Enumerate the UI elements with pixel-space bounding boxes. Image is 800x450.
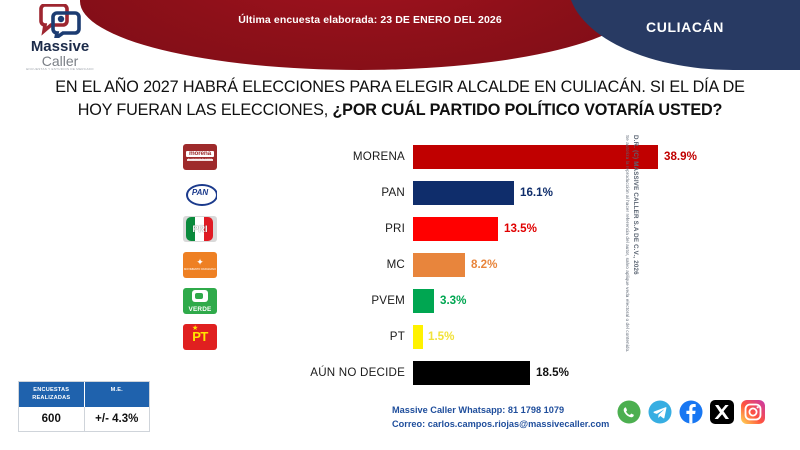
results-bar-chart: morena la esperanza de méxico MORENA 38.… bbox=[0, 132, 800, 364]
bar-morena bbox=[413, 145, 658, 169]
bar-undecided bbox=[413, 361, 530, 385]
pri-logo: PRI bbox=[183, 216, 217, 242]
stats-value-margin: +/- 4.3% bbox=[85, 407, 150, 431]
whatsapp-icon[interactable] bbox=[617, 400, 641, 424]
table-row: VERDE PVEM 3.3% bbox=[0, 288, 800, 318]
header-blue-banner bbox=[568, 0, 800, 70]
bar-pri bbox=[413, 217, 498, 241]
x-twitter-icon[interactable] bbox=[710, 400, 734, 424]
question-line-2-normal: HOY FUERAN LAS ELECCIONES, bbox=[78, 101, 333, 119]
value-label-morena: 38.9% bbox=[664, 150, 697, 163]
mc-logo-text: ✦ bbox=[183, 258, 217, 267]
pan-logo-text: PAN bbox=[183, 188, 217, 197]
header-red-banner bbox=[80, 0, 640, 70]
value-label-pt: 1.5% bbox=[428, 330, 454, 343]
whatsapp-contact-line: Massive Caller Whatsapp: 81 1798 1079 bbox=[392, 403, 609, 417]
logo-tagline: ENCUESTAS Y ESTUDIOS DE MERCADO bbox=[12, 68, 108, 71]
bar-mc bbox=[413, 253, 465, 277]
value-label-pan: 16.1% bbox=[520, 186, 553, 199]
table-row: morena la esperanza de méxico MORENA 38.… bbox=[0, 144, 800, 174]
category-label-pan: PAN bbox=[250, 186, 405, 199]
pri-logo-text: PRI bbox=[183, 224, 217, 234]
category-label-morena: MORENA bbox=[250, 150, 405, 163]
footer-contact-info: Massive Caller Whatsapp: 81 1798 1079 Co… bbox=[392, 403, 609, 431]
pvem-logo: VERDE bbox=[183, 288, 217, 314]
morena-logo-sub: la esperanza de méxico bbox=[183, 158, 217, 161]
bar-pvem bbox=[413, 289, 434, 313]
bar-pan bbox=[413, 181, 514, 205]
poll-question: EN EL AÑO 2027 HABRÁ ELECCIONES PARA ELE… bbox=[24, 76, 776, 122]
city-label: CULIACÁN bbox=[600, 19, 770, 35]
table-row: ★ PT PT 1.5% bbox=[0, 324, 800, 354]
table-row: PAN PAN 16.1% bbox=[0, 180, 800, 210]
stats-header-margin: M.E. bbox=[85, 382, 150, 407]
pan-logo: PAN bbox=[183, 180, 217, 206]
stats-header-row: ENCUESTAS REALIZADAS M.E. bbox=[19, 382, 149, 407]
logo-name-bottom: Caller bbox=[12, 54, 108, 68]
question-line-2-bold: ¿POR CUÁL PARTIDO POLÍTICO VOTARÍA USTED… bbox=[332, 101, 722, 119]
value-label-pvem: 3.3% bbox=[440, 294, 466, 307]
mc-logo: ✦ MOVIMIENTO CIUDADANO bbox=[183, 252, 217, 278]
question-line-1: EN EL AÑO 2027 HABRÁ ELECCIONES PARA ELE… bbox=[55, 78, 745, 96]
reproduction-notice: Se autoriza la reproducción al hacer ref… bbox=[625, 135, 630, 385]
category-label-pri: PRI bbox=[250, 222, 405, 235]
brand-logo: Massive Caller ENCUESTAS Y ESTUDIOS DE M… bbox=[12, 4, 108, 70]
page-header: Última encuesta elaborada: 23 DE ENERO D… bbox=[0, 0, 800, 70]
table-row: ✦ MOVIMIENTO CIUDADANO MC 8.2% bbox=[0, 252, 800, 282]
category-label-undecided: AÚN NO DECIDE bbox=[240, 366, 405, 379]
pt-logo: ★ PT bbox=[183, 324, 217, 350]
stats-value-surveys: 600 bbox=[19, 407, 85, 431]
category-label-mc: MC bbox=[250, 258, 405, 271]
stats-header-surveys: ENCUESTAS REALIZADAS bbox=[19, 382, 85, 407]
speech-bubbles-icon bbox=[12, 4, 108, 38]
pvem-logo-text: VERDE bbox=[183, 306, 217, 313]
bar-pt bbox=[413, 325, 423, 349]
stats-value-row: 600 +/- 4.3% bbox=[19, 407, 149, 431]
social-links[interactable] bbox=[617, 400, 765, 424]
pt-logo-text: PT bbox=[183, 330, 217, 343]
category-label-pvem: PVEM bbox=[250, 294, 405, 307]
copyright-line: D.R. (C) MASSIVE CALLER S.A DE C.V., 202… bbox=[632, 135, 639, 385]
value-label-undecided: 18.5% bbox=[536, 366, 569, 379]
table-row: PRI PRI 13.5% bbox=[0, 216, 800, 246]
survey-stats-table: ENCUESTAS REALIZADAS M.E. 600 +/- 4.3% bbox=[18, 381, 150, 432]
email-contact-line: Correo: carlos.campos.riojas@massivecall… bbox=[392, 417, 609, 431]
morena-logo-text: morena bbox=[183, 150, 217, 157]
facebook-icon[interactable] bbox=[679, 400, 703, 424]
logo-name-top: Massive bbox=[12, 39, 108, 54]
morena-logo: morena la esperanza de méxico bbox=[183, 144, 217, 170]
instagram-icon[interactable] bbox=[741, 400, 765, 424]
mc-logo-sub: MOVIMIENTO CIUDADANO bbox=[183, 268, 217, 271]
value-label-pri: 13.5% bbox=[504, 222, 537, 235]
value-label-mc: 8.2% bbox=[471, 258, 497, 271]
telegram-icon[interactable] bbox=[648, 400, 672, 424]
survey-date-label: Última encuesta elaborada: 23 DE ENERO D… bbox=[180, 14, 560, 26]
category-label-pt: PT bbox=[250, 330, 405, 343]
copyright-sidebar: D.R. (C) MASSIVE CALLER S.A DE C.V., 202… bbox=[625, 135, 639, 385]
